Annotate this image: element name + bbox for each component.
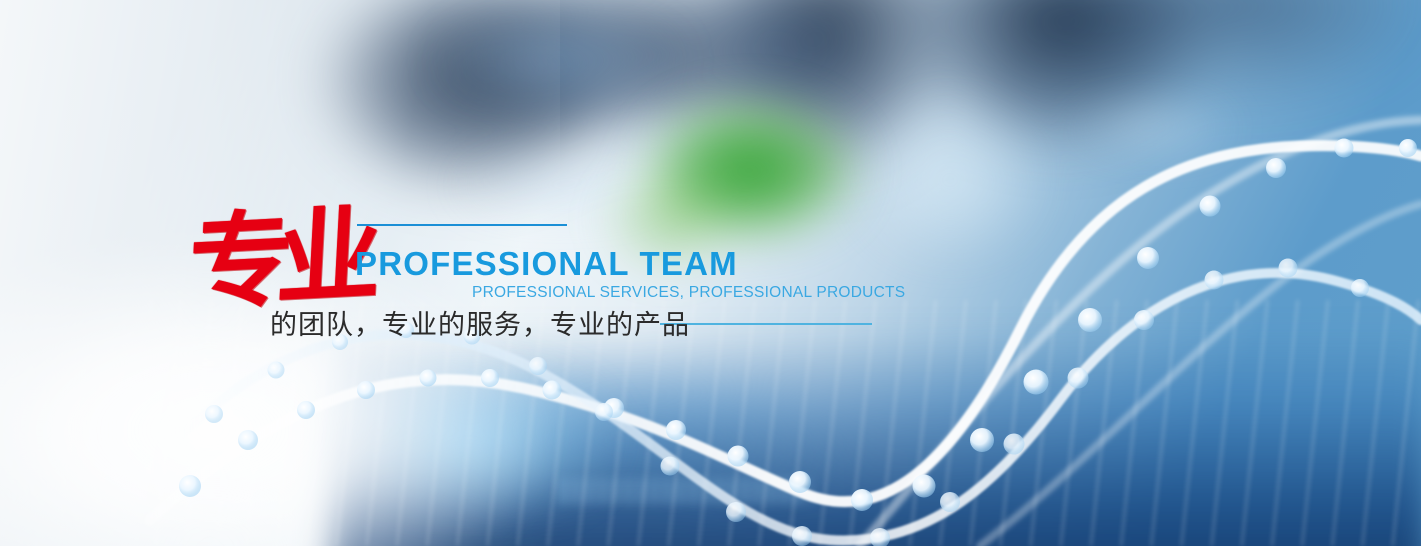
page-subtitle: PROFESSIONAL SERVICES, PROFESSIONAL PROD… <box>472 284 905 302</box>
hero-banner: 专业 PROFESSIONAL TEAM PROFESSIONAL SERVIC… <box>0 0 1421 546</box>
chinese-tagline: 的团队，专业的服务，专业的产品 <box>270 303 690 342</box>
rule-bottom-divider <box>660 323 872 325</box>
page-title: PROFESSIONAL TEAM <box>355 245 738 283</box>
rule-top-divider <box>357 224 567 226</box>
banner-content: 专业 PROFESSIONAL TEAM PROFESSIONAL SERVIC… <box>0 0 1421 546</box>
